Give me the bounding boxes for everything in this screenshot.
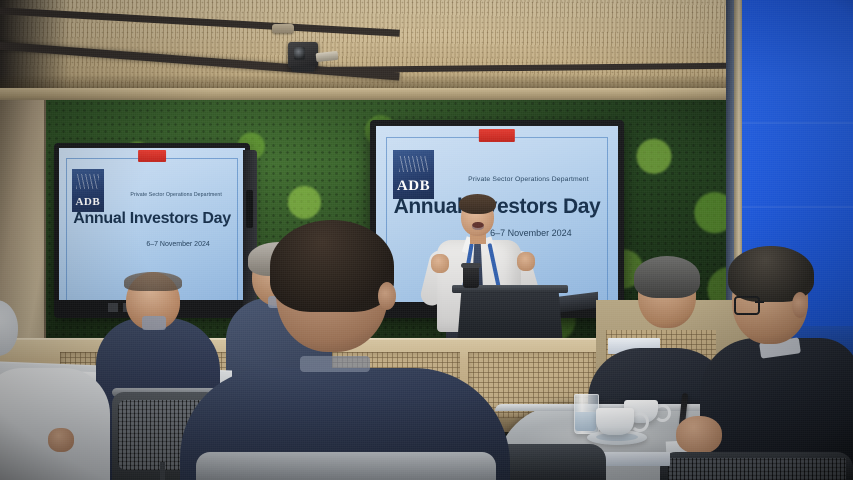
- red-banner-logo: [138, 150, 166, 161]
- speaker-mouth: [472, 222, 484, 230]
- water-glass-contents: [575, 412, 596, 431]
- ceiling-vent: [272, 24, 294, 33]
- presentation-photo-scene: ADB Private Sector Operations Department…: [0, 0, 853, 480]
- attendee-back-right-hair: [634, 256, 700, 298]
- adb-logo-mark: [76, 174, 99, 188]
- chair-leg: [160, 462, 165, 480]
- speaker-hair: [459, 194, 496, 214]
- panel-seam: [742, 122, 853, 124]
- chair-mesh: [668, 458, 846, 480]
- attendee-right-glasses-ear: [792, 292, 808, 318]
- slide-title: Annual Investors Day: [66, 210, 237, 228]
- attendee-center-collar: [300, 356, 370, 372]
- attendee-bald-navy-collar: [142, 316, 166, 330]
- podium-coffee-cup: [463, 266, 479, 288]
- speaker-left-hand: [431, 254, 449, 273]
- adb-logo: ADB: [72, 169, 104, 211]
- speaker-right-hand: [517, 252, 535, 271]
- eyeglasses-bridge: [755, 301, 764, 303]
- red-banner-logo: [479, 129, 515, 142]
- chair-backrest-top: [196, 452, 496, 480]
- slide-subtitle: Private Sector Operations Department: [453, 176, 603, 183]
- attendee-bald-navy-hair: [124, 272, 182, 291]
- camera-base: [291, 66, 315, 72]
- slide-title: Annual Investors Day: [386, 195, 609, 219]
- adb-logo-mark: [399, 156, 429, 172]
- camera-lens-icon: [294, 47, 305, 60]
- attendee-right-glasses-hand: [676, 416, 722, 454]
- attendee-center-hair: [270, 220, 394, 312]
- slide-date: 6–7 November 2024: [122, 241, 234, 248]
- eyeglasses-icon: [734, 296, 760, 315]
- panel-seam: [742, 206, 853, 208]
- podium-coffee-cup-lid: [461, 263, 481, 268]
- adb-logo: ADB: [393, 150, 434, 198]
- table-name-card: [600, 452, 670, 466]
- left-display-vent: [246, 190, 253, 228]
- slide-subtitle: Private Sector Operations Department: [119, 192, 234, 198]
- attendee-center-ear: [378, 282, 396, 310]
- attendee-front-left-body: [0, 368, 110, 480]
- attendee-front-left-hand: [48, 428, 74, 452]
- coffee-cup-1[interactable]: [596, 408, 634, 435]
